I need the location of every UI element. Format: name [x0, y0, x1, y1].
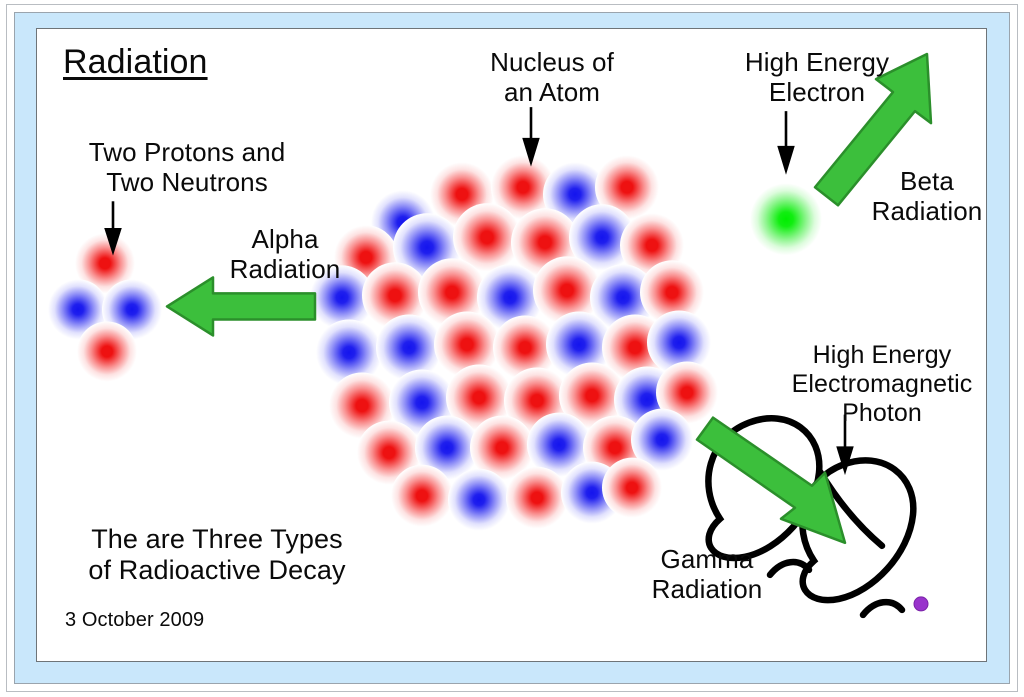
atomic-nucleus — [310, 155, 718, 531]
alpha-radiation-arrow — [167, 277, 315, 335]
page-title: Radiation — [63, 43, 208, 82]
label-beta-radiation: Beta Radiation — [837, 166, 987, 226]
nucleon-neutron — [448, 469, 510, 531]
label-high-energy-photon: High Energy Electromagnetic Photon — [737, 341, 987, 428]
label-nucleus: Nucleus of an Atom — [437, 47, 667, 107]
caption-three-types: The are Three Types of Radioactive Decay — [62, 524, 372, 587]
alpha-nucleon-proton — [77, 321, 137, 381]
label-alpha-radiation: Alpha Radiation — [205, 224, 365, 284]
label-gamma-radiation: Gamma Radiation — [607, 544, 807, 604]
pointer-arrow-electron — [779, 111, 793, 170]
alpha-particle — [48, 233, 162, 381]
label-alpha-particle: Two Protons and Two Neutrons — [57, 137, 317, 197]
nucleon-proton — [391, 465, 453, 527]
nucleon-neutron — [376, 314, 442, 380]
electron-glow — [750, 183, 822, 255]
nucleon-proton — [602, 458, 662, 518]
screenshot-root: Radiation Two Protons and Two Neutrons A… — [0, 0, 1024, 697]
pointer-arrow-nucleus — [524, 107, 538, 162]
label-high-energy-electron: High Energy Electron — [697, 47, 937, 107]
photon-endpoint-dot — [914, 597, 928, 611]
gamma-radiation-arrow — [697, 418, 845, 543]
diagram-canvas: Radiation Two Protons and Two Neutrons A… — [36, 28, 987, 662]
nucleon-proton — [506, 467, 568, 529]
date-stamp: 3 October 2009 — [65, 609, 204, 632]
